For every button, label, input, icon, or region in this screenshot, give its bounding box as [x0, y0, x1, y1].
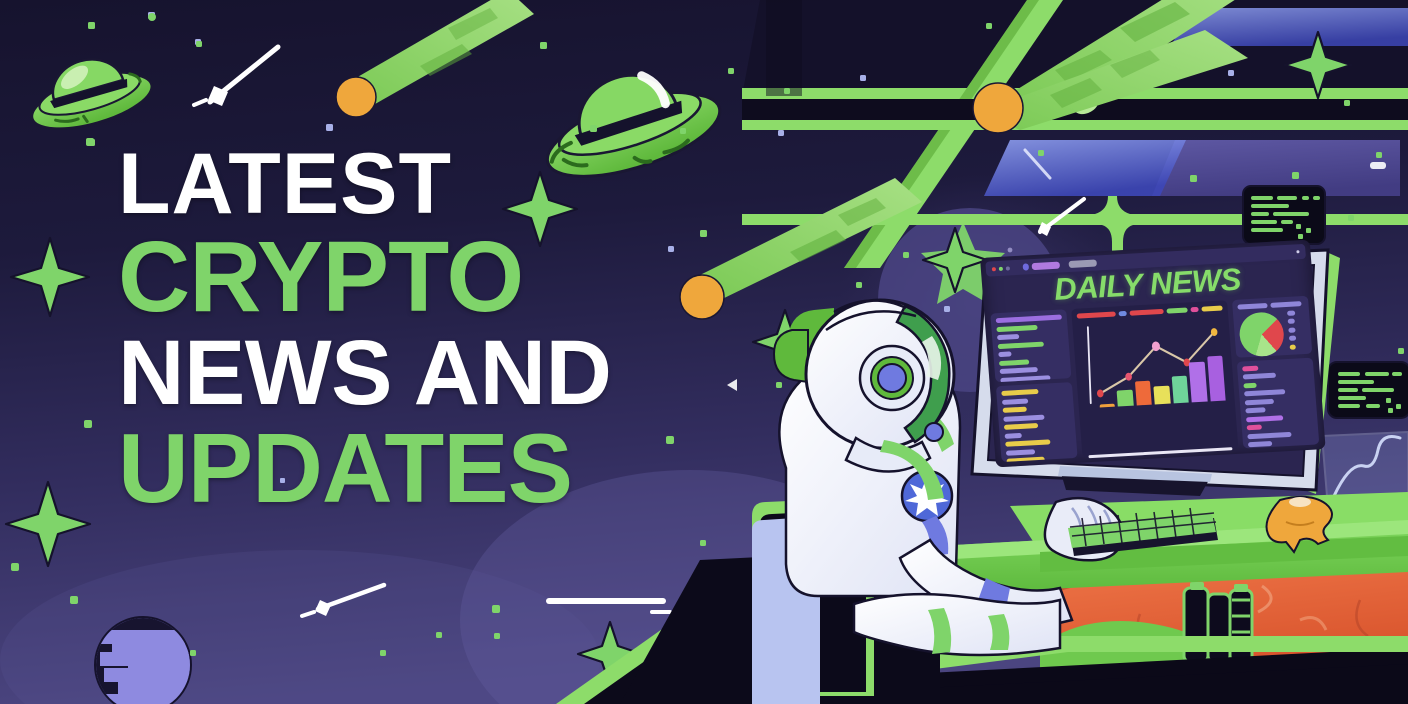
data-row-5	[999, 359, 1030, 366]
data-row-2	[1003, 407, 1027, 413]
legend-chip-1	[1119, 311, 1127, 316]
window-menu-icon[interactable]	[1296, 250, 1299, 253]
bar-6	[1189, 362, 1207, 402]
data-row-7	[1006, 449, 1035, 456]
data-row-7	[1247, 425, 1262, 431]
headline-line-4: UPDATES	[118, 420, 738, 516]
close-dot-icon[interactable]	[992, 267, 996, 271]
chart-plot-area	[1077, 315, 1230, 411]
data-row-0	[1287, 310, 1295, 315]
dashboard	[990, 296, 1319, 462]
pie-chart	[1238, 311, 1285, 357]
data-row-8	[1247, 432, 1291, 439]
data-row-1	[1288, 319, 1295, 324]
dashboard-center-column	[1071, 300, 1238, 457]
headline-line-1: LATEST	[118, 142, 738, 226]
data-row-0	[996, 315, 1062, 324]
banner-illustration: LATEST CRYPTO NEWS AND UPDATES DAILY NEW…	[0, 0, 1408, 704]
data-row-6	[1005, 440, 1050, 447]
minimize-dot-icon[interactable]	[999, 266, 1003, 270]
bar-3	[1135, 381, 1152, 406]
headline-block: LATEST CRYPTO NEWS AND UPDATES	[118, 142, 738, 518]
maximize-dot-icon[interactable]	[1006, 266, 1010, 270]
data-row-0	[1001, 389, 1038, 396]
data-row-1	[1243, 373, 1276, 380]
data-row-4	[998, 351, 1012, 357]
data-row-2	[1243, 382, 1257, 388]
data-row-8	[1006, 457, 1045, 462]
data-row-6	[1246, 415, 1283, 422]
bar-chart	[1096, 349, 1226, 408]
legend-chip-4	[1191, 307, 1199, 312]
dashboard-right-column	[1232, 296, 1319, 449]
data-row-9	[1248, 441, 1272, 447]
data-row-2	[997, 334, 1020, 340]
data-row-3	[1003, 414, 1044, 421]
data-row-6	[1000, 367, 1039, 374]
legend-chip-5	[1201, 306, 1222, 312]
headline-line-3: NEWS AND	[118, 328, 738, 418]
panel-pie[interactable]	[1232, 296, 1312, 358]
data-row-5	[1005, 433, 1023, 439]
data-row-4	[1290, 344, 1297, 349]
panel-chart[interactable]	[1071, 300, 1238, 457]
data-row-3	[998, 341, 1045, 349]
bar-2	[1117, 390, 1134, 406]
tab-indicator-icon[interactable]	[1023, 263, 1030, 270]
legend-chip-0	[1077, 311, 1117, 318]
headline-line-2: CRYPTO	[118, 228, 738, 326]
legend-chip-2	[1130, 309, 1164, 316]
bar-5	[1171, 376, 1188, 404]
data-row-4	[1004, 423, 1039, 430]
tab-inactive[interactable]	[1068, 259, 1096, 268]
data-row-3	[1244, 389, 1285, 396]
data-row-2	[1288, 327, 1296, 332]
panel-right-bottom[interactable]	[1237, 357, 1320, 448]
screen-inner: DAILY NEWS	[980, 240, 1326, 468]
data-row-1	[1002, 398, 1029, 404]
bar-4	[1154, 386, 1171, 404]
panel-left-bottom[interactable]	[996, 382, 1078, 462]
data-row-3	[1289, 335, 1296, 340]
data-row-5	[1245, 408, 1265, 414]
legend-chip-3	[1167, 307, 1188, 313]
panel-left-top[interactable]	[990, 309, 1071, 382]
monitor-screen[interactable]: DAILY NEWS	[980, 240, 1326, 468]
dashboard-left-column	[990, 309, 1077, 462]
tab-active[interactable]	[1032, 262, 1060, 271]
bar-7	[1207, 356, 1226, 401]
side-terminal-right[interactable]	[1328, 362, 1408, 418]
data-row-0	[1242, 365, 1258, 371]
pie-legend	[1287, 309, 1307, 352]
data-row-1	[996, 324, 1037, 331]
data-row-4	[1245, 399, 1274, 406]
data-row-7	[1000, 375, 1050, 383]
